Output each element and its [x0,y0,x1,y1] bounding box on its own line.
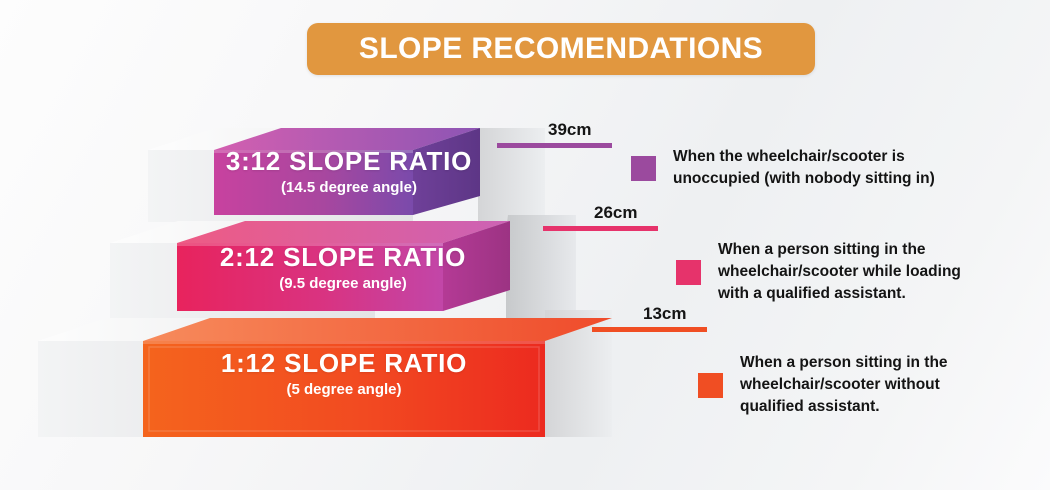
measurement-value-26cm: 26cm [594,203,637,223]
legend-line-3: qualified assistant. [740,398,880,415]
measurement-rule-39cm [497,143,612,148]
legend-text-unoccupied: When the wheelchair/scooter is unoccupie… [673,146,935,190]
legend-text-without-assistant: When a person sitting in the wheelchair/… [740,352,948,418]
legend-swatch-pink [676,260,701,285]
measurement-rule-13cm [592,327,707,332]
measurement-value-39cm: 39cm [548,120,591,140]
legend-line-2: wheelchair/scooter without [740,376,940,393]
infographic-canvas: SLOPE RECOMENDATIONS [0,0,1050,490]
measurement-rule-26cm [543,226,658,231]
step-block-bottom [143,318,612,437]
legend-text-with-assistant: When a person sitting in the wheelchair/… [718,239,961,305]
legend-swatch-orange [698,373,723,398]
measurement-value-13cm: 13cm [643,304,686,324]
legend-item-unoccupied: When the wheelchair/scooter is unoccupie… [631,146,1031,190]
legend-line-1: When a person sitting in the [718,241,926,258]
legend-item-with-assistant: When a person sitting in the wheelchair/… [676,239,1048,305]
legend-item-without-assistant: When a person sitting in the wheelchair/… [698,352,1046,418]
step-block-middle [177,221,510,311]
legend-line-2: wheelchair/scooter while loading [718,263,961,280]
legend-line-3: with a qualified assistant. [718,285,906,302]
legend-swatch-purple [631,156,656,181]
legend-line-1: When the wheelchair/scooter is [673,148,905,165]
legend-line-2: unoccupied (with nobody sitting in) [673,170,935,187]
step-block-top [214,128,480,215]
legend-line-1: When a person sitting in the [740,354,948,371]
